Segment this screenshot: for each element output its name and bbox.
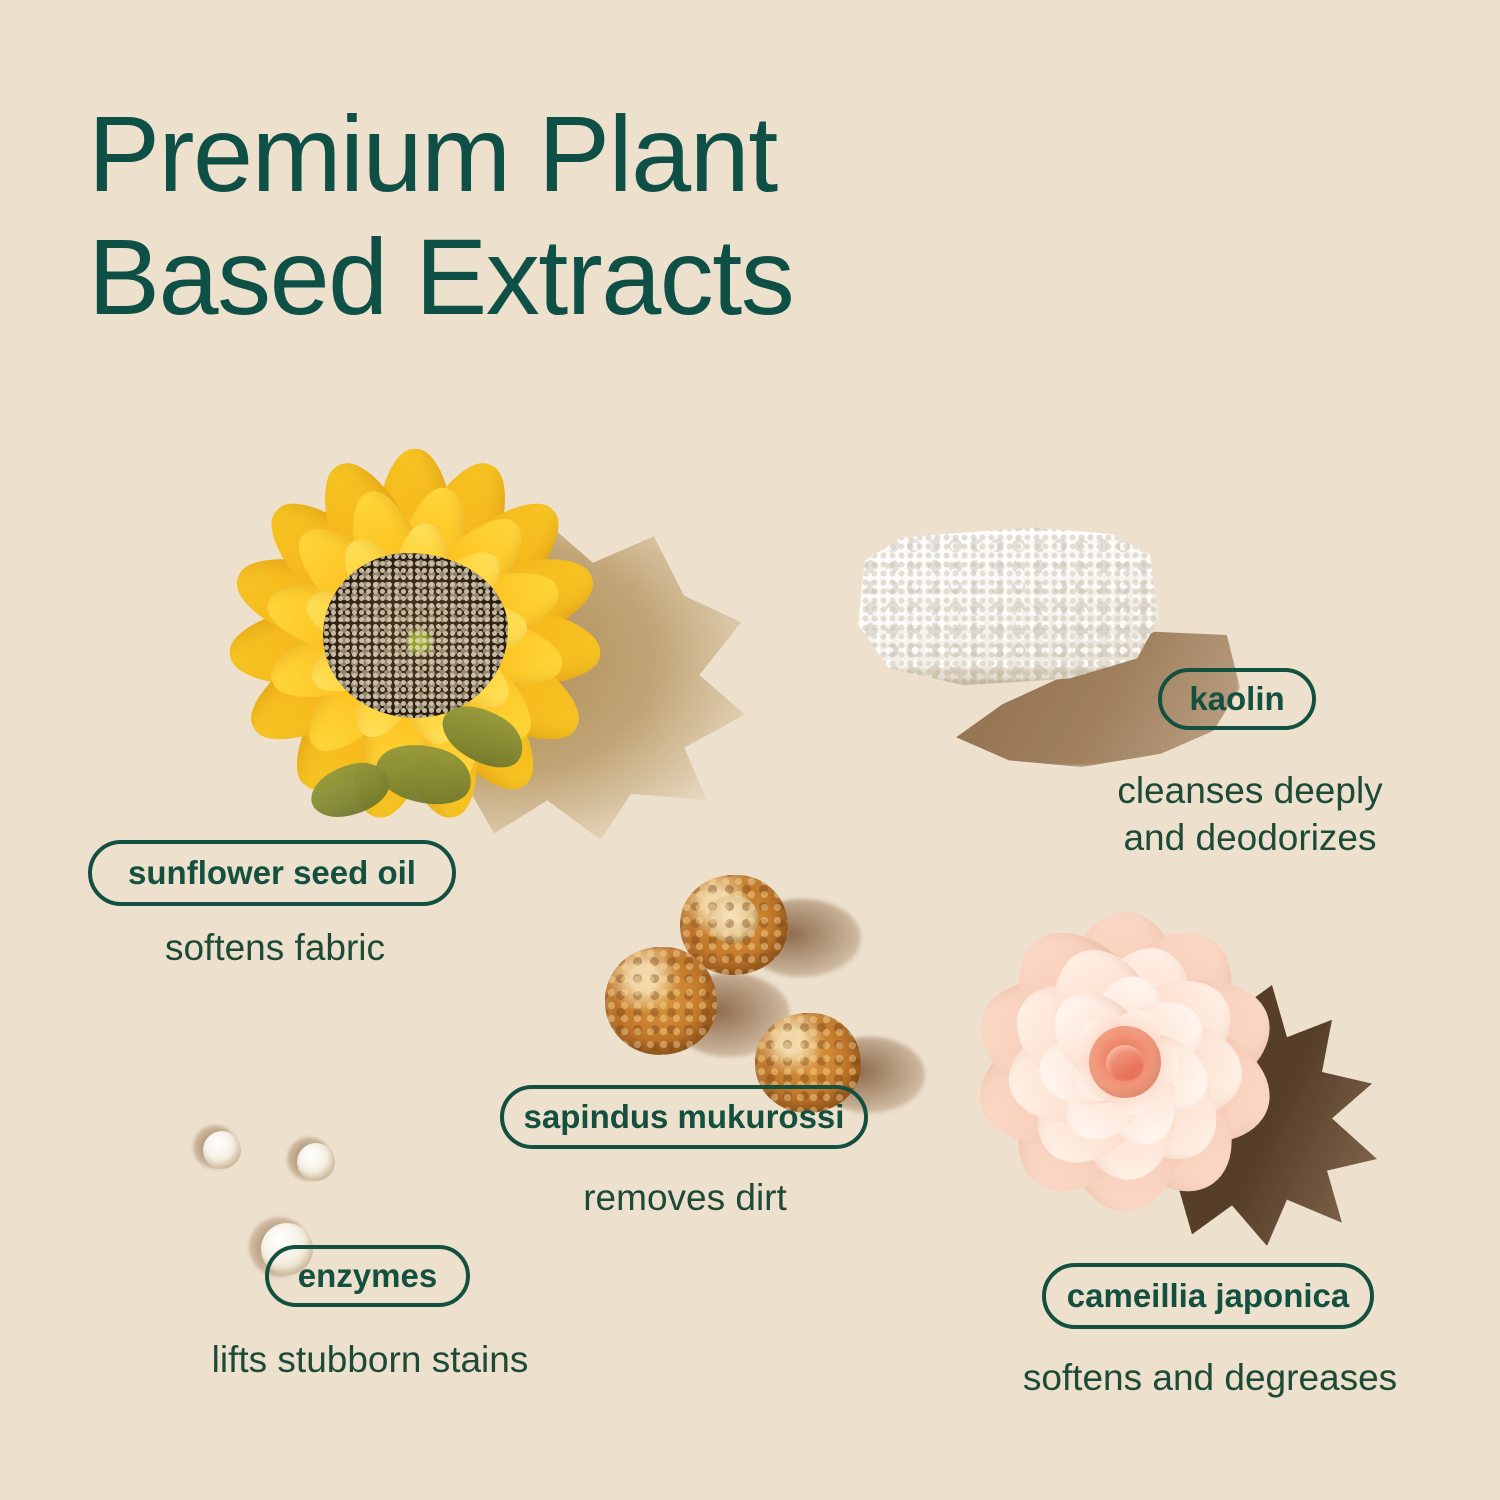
caption-kaolin: cleanses deeply and deodorizes <box>1070 768 1430 861</box>
caption-cameillia-japonica: softens and degreases <box>1000 1355 1420 1402</box>
soap-nut-opening <box>708 895 758 943</box>
sunflower-seed-texture <box>323 553 508 718</box>
enzyme-bead <box>297 1143 335 1181</box>
sunflower-seed-head <box>323 553 508 718</box>
label-kaolin[interactable]: kaolin <box>1158 668 1316 730</box>
sunflower-photo <box>190 415 710 885</box>
label-cameillia-japonica[interactable]: cameillia japonica <box>1042 1263 1374 1329</box>
kaolin-rock-photo <box>840 510 1260 770</box>
camellia-petals <box>970 912 1280 1212</box>
caption-enzymes: lifts stubborn stains <box>160 1337 580 1384</box>
page-title: Premium Plant Based Extracts <box>88 92 1038 338</box>
label-sapindus-mukurossi[interactable]: sapindus mukurossi <box>500 1085 868 1149</box>
infographic-canvas: Premium Plant Based Extracts <box>0 0 1500 1500</box>
label-sunflower-seed-oil[interactable]: sunflower seed oil <box>88 840 456 906</box>
caption-sunflower-seed-oil: softens fabric <box>60 925 490 972</box>
soap-nut <box>605 947 717 1055</box>
camellia-flower-photo <box>960 898 1380 1288</box>
camellia-center-bud <box>1089 1026 1161 1098</box>
enzyme-bead <box>203 1131 241 1169</box>
label-enzymes[interactable]: enzymes <box>265 1245 470 1307</box>
soap-nuts-photo <box>575 865 885 1105</box>
caption-sapindus-mukurossi: removes dirt <box>520 1175 850 1222</box>
